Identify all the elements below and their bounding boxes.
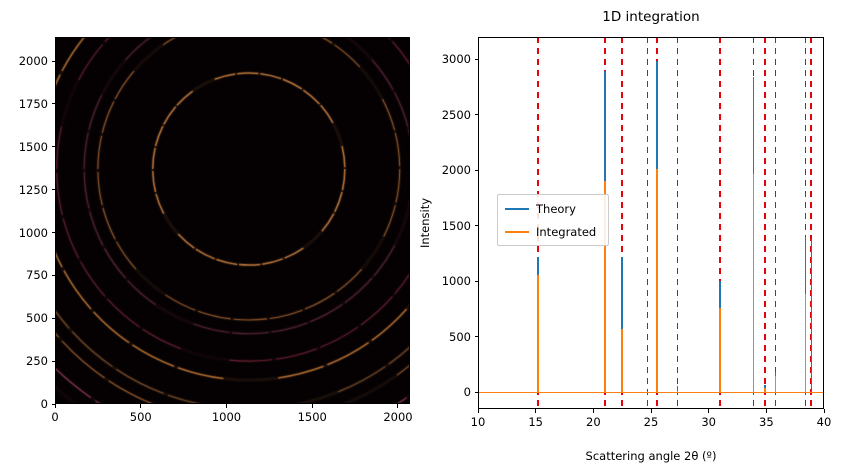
x-tick-mark — [708, 409, 709, 413]
x-tick-label: 10 — [471, 415, 486, 429]
legend-label-integrated: Integrated — [536, 225, 596, 239]
y-tick-mark — [52, 318, 56, 319]
x-tick-label: 35 — [759, 415, 774, 429]
legend-label-theory: Theory — [536, 202, 576, 216]
detector-image-axes — [55, 37, 410, 404]
legend-swatch-theory — [505, 208, 529, 211]
figure-canvas: 0500100015002000025050075010001250150017… — [0, 0, 848, 475]
integrated-peak — [753, 174, 755, 393]
y-tick-label: 1500 — [442, 219, 471, 233]
y-tick-label: 250 — [26, 354, 48, 368]
x-tick-label: 1500 — [298, 410, 327, 424]
x-tick-label: 15 — [528, 415, 543, 429]
y-tick-mark — [52, 232, 56, 233]
integrated-peak — [621, 329, 623, 392]
y-tick-mark — [52, 404, 56, 405]
y-tick-mark — [52, 103, 56, 104]
hkl-reference-line — [764, 37, 766, 409]
y-tick-label: 1750 — [19, 97, 48, 111]
x-tick-mark — [478, 409, 479, 413]
y-tick-mark — [475, 281, 479, 282]
x-tick-label: 1000 — [212, 410, 241, 424]
x-tick-mark — [226, 404, 227, 408]
x-tick-mark — [593, 409, 594, 413]
y-tick-mark — [52, 146, 56, 147]
x-axis-label: Scattering angle 2θ (º) — [586, 449, 717, 463]
y-tick-mark — [475, 392, 479, 393]
y-tick-label: 0 — [41, 397, 48, 411]
x-tick-mark — [766, 409, 767, 413]
y-tick-label: 1500 — [19, 140, 48, 154]
integrated-baseline — [478, 392, 824, 394]
x-tick-label: 30 — [701, 415, 716, 429]
legend-entry-theory: Theory — [505, 198, 576, 220]
hkl-reference-line — [775, 37, 777, 409]
y-tick-mark — [475, 114, 479, 115]
theory-peak — [811, 239, 813, 392]
integrated-peak — [805, 294, 807, 393]
y-tick-label: 1250 — [19, 183, 48, 197]
y-tick-label: 3000 — [442, 52, 471, 66]
y-tick-mark — [475, 170, 479, 171]
y-tick-mark — [52, 361, 56, 362]
x-tick-label: 40 — [817, 415, 832, 429]
hkl-reference-line — [647, 37, 649, 409]
x-tick-mark — [140, 404, 141, 408]
integrated-peak — [656, 169, 658, 392]
y-tick-label: 2000 — [442, 163, 471, 177]
diffraction-rings-image — [55, 37, 410, 404]
y-tick-mark — [52, 275, 56, 276]
x-tick-label: 25 — [644, 415, 659, 429]
x-tick-mark — [651, 409, 652, 413]
y-tick-label: 2500 — [442, 108, 471, 122]
y-tick-label: 750 — [26, 268, 48, 282]
y-tick-mark — [52, 189, 56, 190]
y-tick-mark — [475, 225, 479, 226]
y-tick-mark — [52, 61, 56, 62]
x-tick-label: 0 — [51, 410, 58, 424]
legend-entry-integrated: Integrated — [505, 221, 596, 243]
x-tick-mark — [55, 404, 56, 408]
y-axis-label: Intensity — [418, 198, 432, 248]
page-title: 1D integration — [602, 9, 699, 25]
x-tick-label: 500 — [130, 410, 152, 424]
legend[interactable]: Theory Integrated — [497, 194, 609, 246]
x-tick-label: 20 — [586, 415, 601, 429]
x-tick-mark — [824, 409, 825, 413]
x-tick-mark — [397, 404, 398, 408]
legend-swatch-integrated — [505, 231, 529, 234]
y-tick-label: 1000 — [442, 274, 471, 288]
integrated-peak — [537, 275, 539, 393]
y-tick-label: 1000 — [19, 226, 48, 240]
y-tick-label: 2000 — [19, 54, 48, 68]
x-tick-label: 2000 — [383, 410, 412, 424]
y-tick-label: 0 — [464, 385, 471, 399]
x-tick-mark — [535, 409, 536, 413]
y-tick-label: 500 — [26, 311, 48, 325]
y-tick-label: 500 — [449, 330, 471, 344]
integrated-peak — [775, 376, 777, 393]
hkl-reference-line — [677, 37, 679, 409]
integrated-peak — [719, 308, 721, 392]
y-tick-mark — [475, 59, 479, 60]
x-tick-mark — [312, 404, 313, 408]
y-tick-mark — [475, 336, 479, 337]
